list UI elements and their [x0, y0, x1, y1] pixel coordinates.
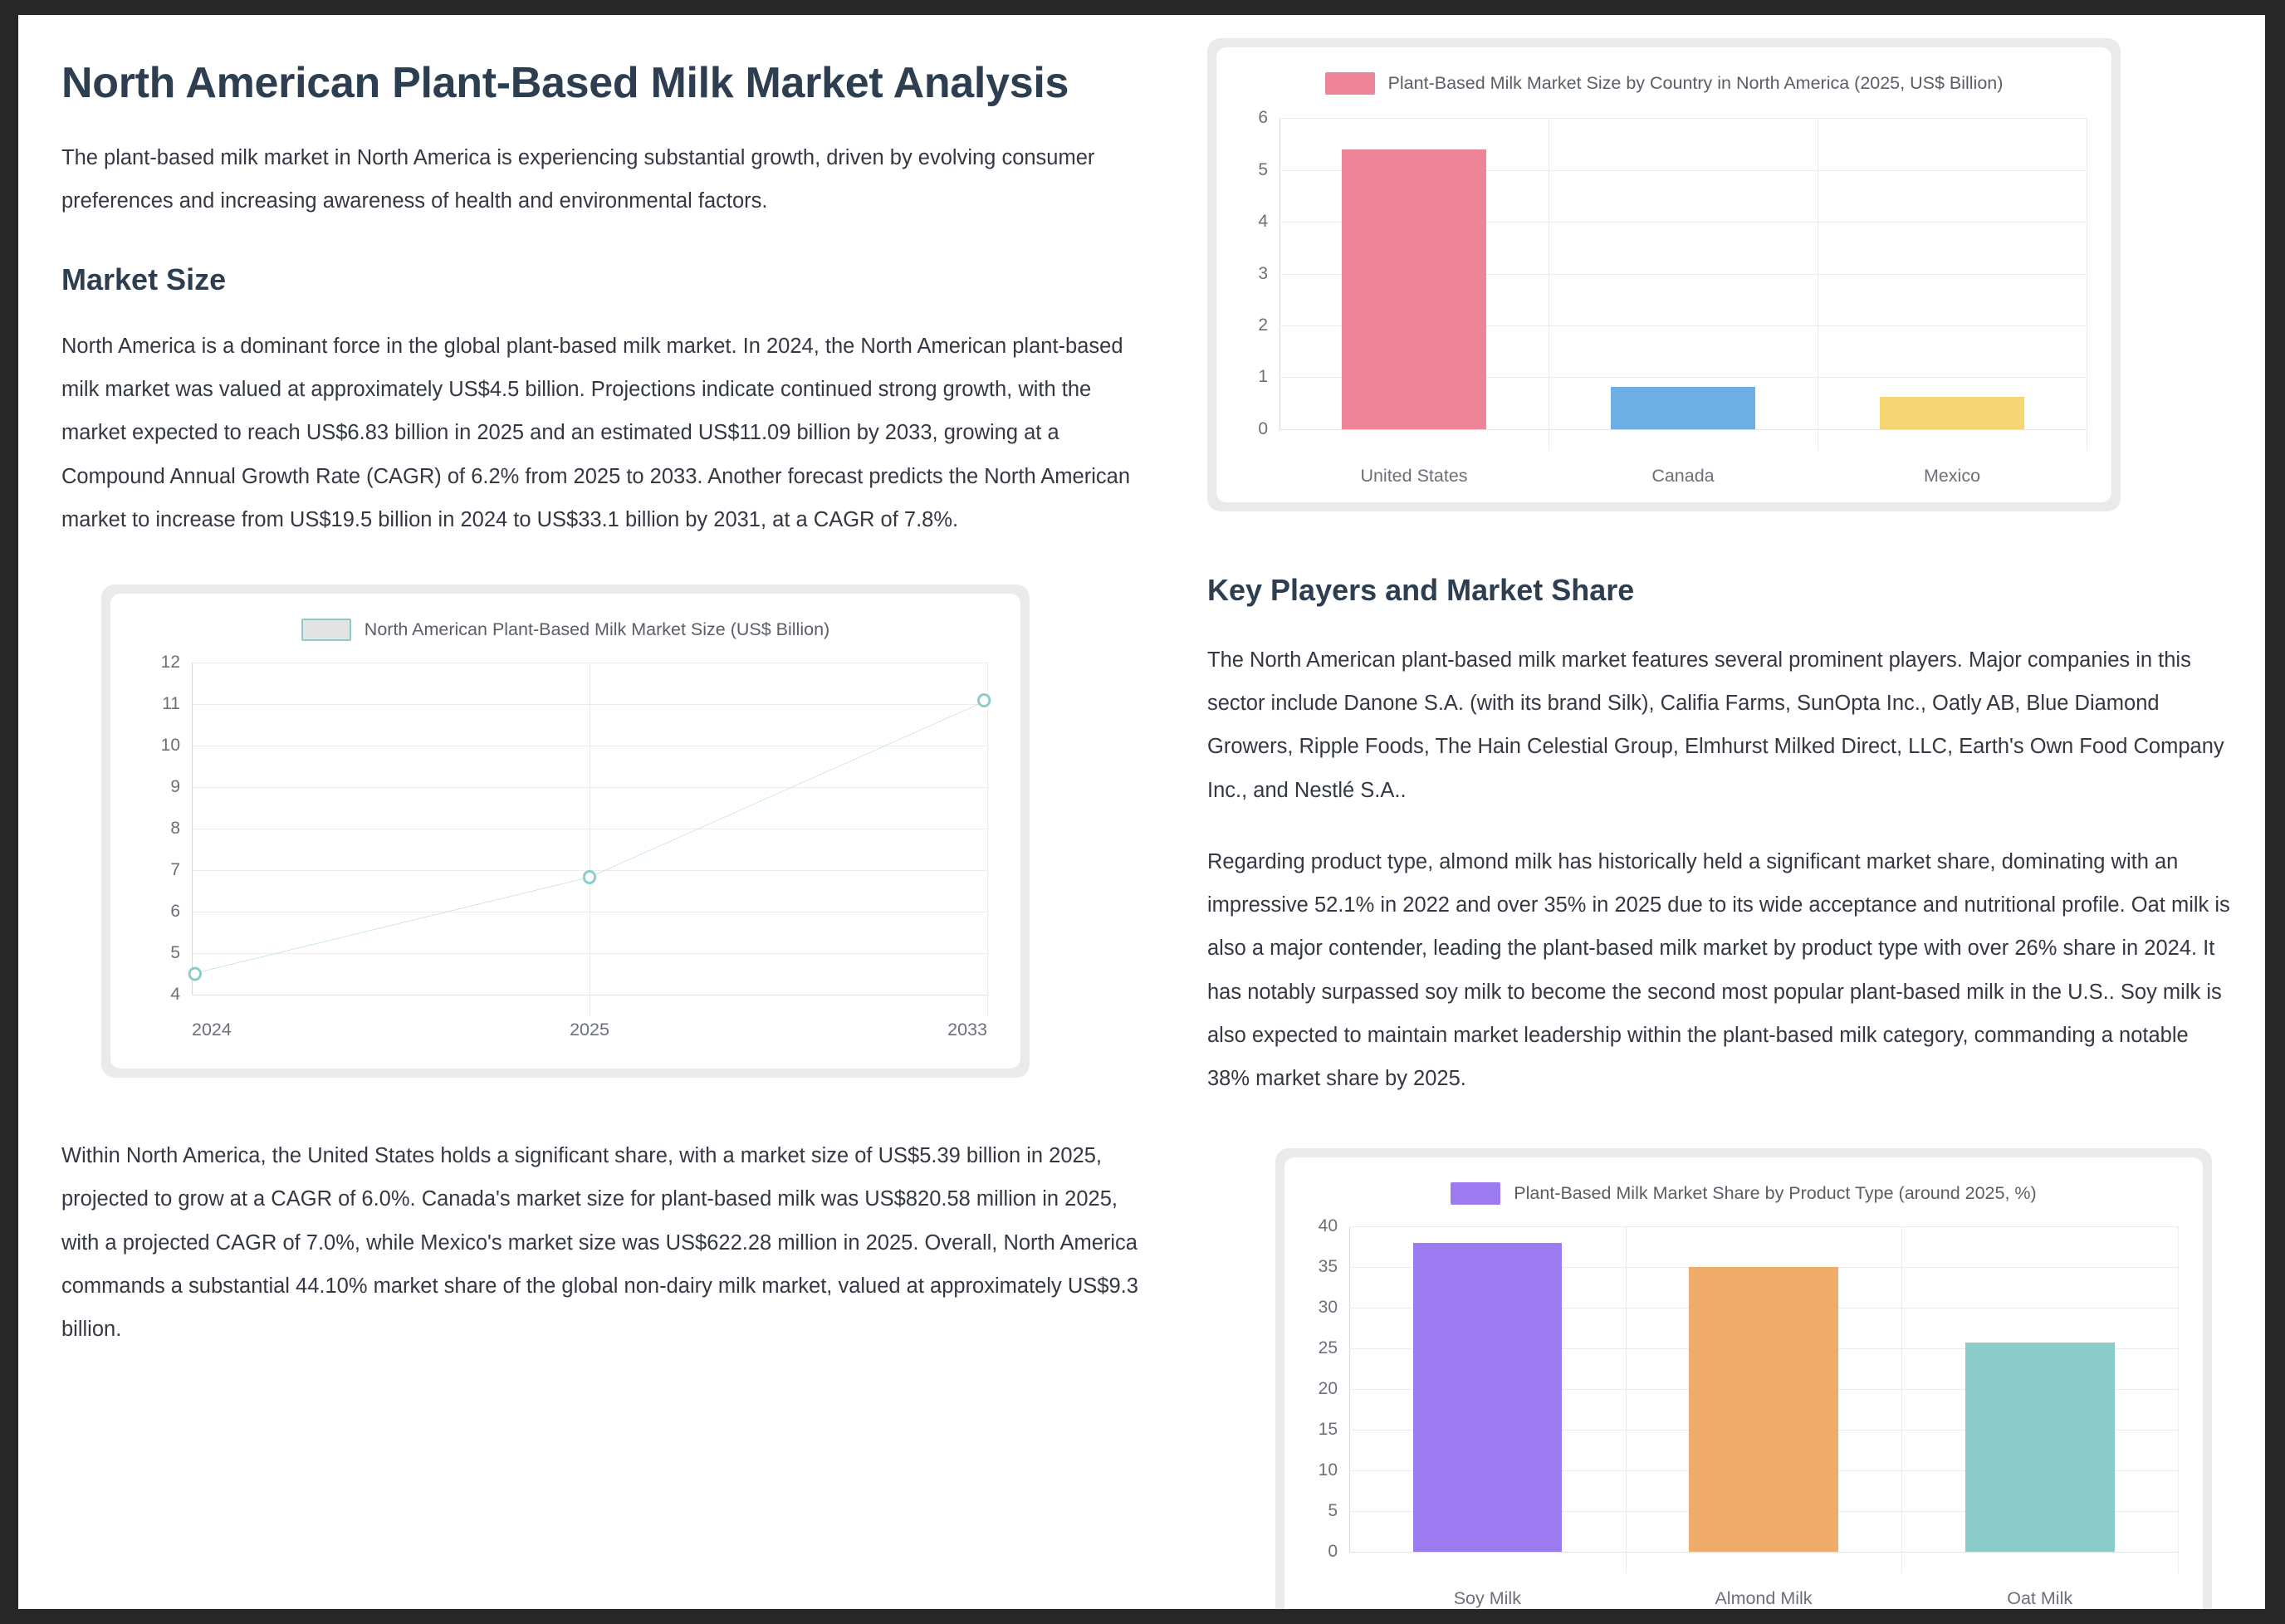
- y-tick-label: 7: [170, 860, 180, 880]
- x-axis-label: United States: [1280, 466, 1549, 487]
- product-type-bar-chart-x-labels: Soy Milk Almond Milk Oat Milk: [1349, 1552, 2178, 1609]
- bar-oat-milk: [1965, 1343, 2115, 1553]
- intro-paragraph: The plant-based milk market in North Ame…: [61, 136, 1144, 223]
- column-separator: [2178, 1226, 2179, 1573]
- product-type-bar-chart-frame: Plant-Based Milk Market Share by Product…: [1275, 1148, 2212, 1609]
- legend-swatch-icon: [301, 619, 351, 641]
- y-tick-label: 1: [1258, 367, 1268, 387]
- line-chart-card: North American Plant-Based Milk Market S…: [110, 594, 1020, 1069]
- y-tick-label: 3: [1258, 264, 1268, 284]
- bar-slot: [1818, 118, 2087, 429]
- bar-slot: [1901, 1226, 2178, 1552]
- line-markers: [192, 663, 987, 995]
- product-type-bar-chart-plot: 40 35 30 25 20 15 10 5 0: [1349, 1226, 2178, 1552]
- x-axis-label: Almond Milk: [1626, 1588, 1902, 1609]
- bar-slot: [1280, 118, 1549, 429]
- bar-almond-milk: [1689, 1267, 1838, 1552]
- bar-united-states: [1342, 149, 1487, 429]
- y-tick-label: 0: [1258, 419, 1268, 439]
- x-axis-label: Mexico: [1818, 466, 2087, 487]
- y-tick-label: 12: [161, 653, 180, 673]
- y-tick-label: 10: [161, 736, 180, 756]
- key-players-paragraph-1: The North American plant-based milk mark…: [1207, 638, 2232, 812]
- y-tick-label: 5: [170, 943, 180, 963]
- bar-slot: [1549, 118, 1818, 429]
- bar-series: [1349, 1226, 2178, 1552]
- column-separator: [2087, 118, 2087, 451]
- bar-series: [1280, 118, 2087, 429]
- y-tick-label: 4: [170, 985, 180, 1005]
- product-type-bar-chart-legend: Plant-Based Milk Market Share by Product…: [1284, 1157, 2203, 1208]
- country-bar-chart-legend-label: Plant-Based Milk Market Size by Country …: [1388, 73, 2004, 94]
- y-tick-label: 0: [1328, 1542, 1338, 1562]
- y-tick-label: 6: [170, 902, 180, 922]
- x-axis-label: 2025: [570, 1020, 609, 1040]
- line-chart-x-labels: 2024 2025 2033: [192, 995, 987, 1040]
- x-axis-label: 2024: [192, 1020, 232, 1040]
- y-tick-label: 35: [1319, 1257, 1338, 1277]
- line-chart-legend-label: North American Plant-Based Milk Market S…: [365, 619, 829, 640]
- bar-canada: [1611, 387, 1756, 429]
- page-title: North American Plant-Based Milk Market A…: [61, 56, 1144, 111]
- section-heading-market-size: Market Size: [61, 261, 1144, 300]
- bar-slot: [1626, 1226, 1902, 1552]
- legend-swatch-icon: [1325, 72, 1375, 95]
- x-axis-label: Oat Milk: [1901, 1588, 2178, 1609]
- y-tick-label: 30: [1319, 1298, 1338, 1318]
- country-bar-chart-card: Plant-Based Milk Market Size by Country …: [1216, 47, 2111, 502]
- y-tick-label: 11: [162, 694, 180, 714]
- country-bar-chart-plot: 6 5 4 3 2 1 0: [1280, 118, 2087, 429]
- country-bar-chart-legend: Plant-Based Milk Market Size by Country …: [1216, 47, 2111, 98]
- y-tick-label: 6: [1258, 108, 1268, 128]
- product-type-bar-chart-card: Plant-Based Milk Market Share by Product…: [1284, 1157, 2203, 1609]
- two-column-layout: North American Plant-Based Milk Market A…: [18, 15, 2265, 1609]
- y-tick-label: 5: [1258, 160, 1268, 180]
- column-separator: [987, 663, 988, 1016]
- bar-slot: [1349, 1226, 1626, 1552]
- y-tick-label: 40: [1319, 1216, 1338, 1236]
- y-tick-label: 2: [1258, 316, 1268, 335]
- y-tick-label: 5: [1328, 1501, 1338, 1521]
- country-bar-chart-x-labels: United States Canada Mexico: [1280, 429, 2087, 487]
- line-chart-legend: North American Plant-Based Milk Market S…: [110, 594, 1020, 644]
- country-bar-chart-frame: Plant-Based Milk Market Size by Country …: [1207, 38, 2121, 511]
- y-tick-label: 25: [1319, 1338, 1338, 1358]
- bar-mexico: [1880, 397, 2025, 429]
- x-axis-label: Canada: [1549, 466, 1818, 487]
- market-size-paragraph-1: North America is a dominant force in the…: [61, 325, 1144, 541]
- x-axis-label: 2033: [947, 1020, 987, 1040]
- y-tick-label: 8: [170, 819, 180, 839]
- y-tick-label: 15: [1319, 1420, 1338, 1440]
- y-tick-label: 10: [1319, 1460, 1338, 1480]
- y-tick-label: 9: [170, 777, 180, 797]
- y-tick-label: 20: [1319, 1379, 1338, 1399]
- section-heading-key-players: Key Players and Market Share: [1207, 571, 2232, 610]
- bar-soy-milk: [1413, 1243, 1563, 1552]
- market-size-paragraph-2: Within North America, the United States …: [61, 1134, 1144, 1351]
- right-column: Plant-Based Milk Market Size by Country …: [1191, 38, 2232, 1609]
- key-players-paragraph-2: Regarding product type, almond milk has …: [1207, 840, 2232, 1101]
- document-page: North American Plant-Based Milk Market A…: [18, 15, 2265, 1609]
- x-axis-label: Soy Milk: [1349, 1588, 1626, 1609]
- line-chart-plot: 12 11 10 9 8 7 6 5 4: [192, 663, 987, 995]
- line-chart-frame: North American Plant-Based Milk Market S…: [101, 585, 1030, 1078]
- product-type-bar-chart-legend-label: Plant-Based Milk Market Share by Product…: [1514, 1183, 2036, 1204]
- legend-swatch-icon: [1451, 1182, 1500, 1205]
- y-tick-label: 4: [1258, 212, 1268, 232]
- left-column: North American Plant-Based Milk Market A…: [61, 38, 1191, 1609]
